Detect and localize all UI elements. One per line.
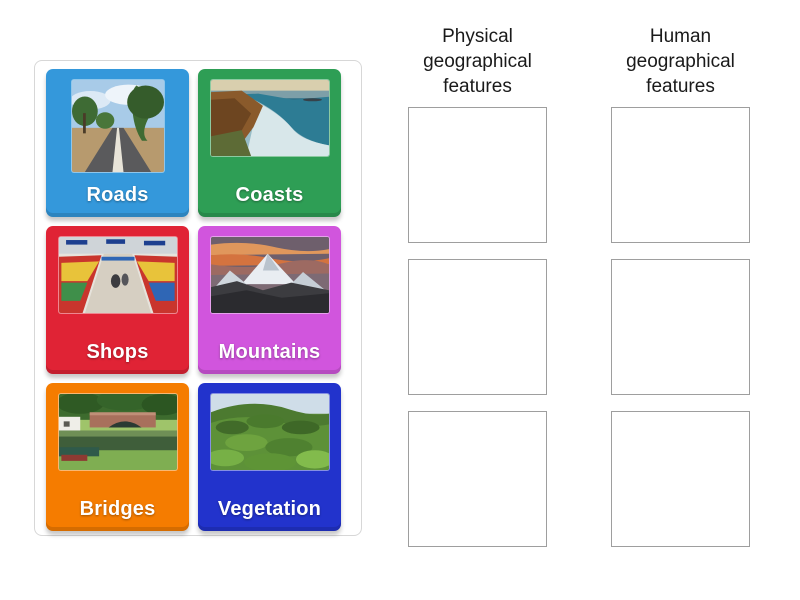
- tile-label: Coasts: [198, 184, 341, 207]
- tile-grid: RoadsCoastsShopsMountainsBridgesVegetati…: [46, 69, 352, 531]
- draggable-tile-coasts[interactable]: Coasts: [198, 69, 341, 217]
- tile-label: Shops: [46, 341, 189, 364]
- stone-bridge-canal-photo: [59, 394, 177, 470]
- dropzone-physical-geographical-features-1[interactable]: [408, 107, 547, 243]
- road-with-trees-photo: [72, 80, 164, 172]
- activity-root: RoadsCoastsShopsMountainsBridgesVegetati…: [0, 0, 800, 600]
- snowy-mountain-sunset-photo: [211, 237, 329, 313]
- tile-label: Bridges: [46, 498, 189, 521]
- tile-label: Vegetation: [198, 498, 341, 521]
- draggable-items-panel: RoadsCoastsShopsMountainsBridgesVegetati…: [34, 60, 362, 536]
- dropzone-human-geographical-features-1[interactable]: [611, 107, 750, 243]
- category-title-physical-geographical-features: Physical geographical features: [408, 24, 547, 99]
- dropzone-human-geographical-features-3[interactable]: [611, 411, 750, 547]
- category-column-human-geographical-features: Human geographical features: [611, 24, 750, 563]
- draggable-tile-mountains[interactable]: Mountains: [198, 226, 341, 374]
- dropzone-physical-geographical-features-2[interactable]: [408, 259, 547, 395]
- draggable-tile-bridges[interactable]: Bridges: [46, 383, 189, 531]
- category-title-human-geographical-features: Human geographical features: [611, 24, 750, 99]
- green-forested-hillside-photo: [211, 394, 329, 470]
- category-column-physical-geographical-features: Physical geographical features: [408, 24, 547, 563]
- category-columns: Physical geographical featuresHuman geog…: [408, 24, 774, 563]
- dropzone-human-geographical-features-2[interactable]: [611, 259, 750, 395]
- tile-label: Roads: [46, 184, 189, 207]
- draggable-tile-vegetation[interactable]: Vegetation: [198, 383, 341, 531]
- tile-label: Mountains: [198, 341, 341, 364]
- coastline-cliffs-ocean-photo: [211, 80, 329, 156]
- draggable-tile-roads[interactable]: Roads: [46, 69, 189, 217]
- dropzone-physical-geographical-features-3[interactable]: [408, 411, 547, 547]
- draggable-tile-shops[interactable]: Shops: [46, 226, 189, 374]
- supermarket-aisle-photo: [59, 237, 177, 313]
